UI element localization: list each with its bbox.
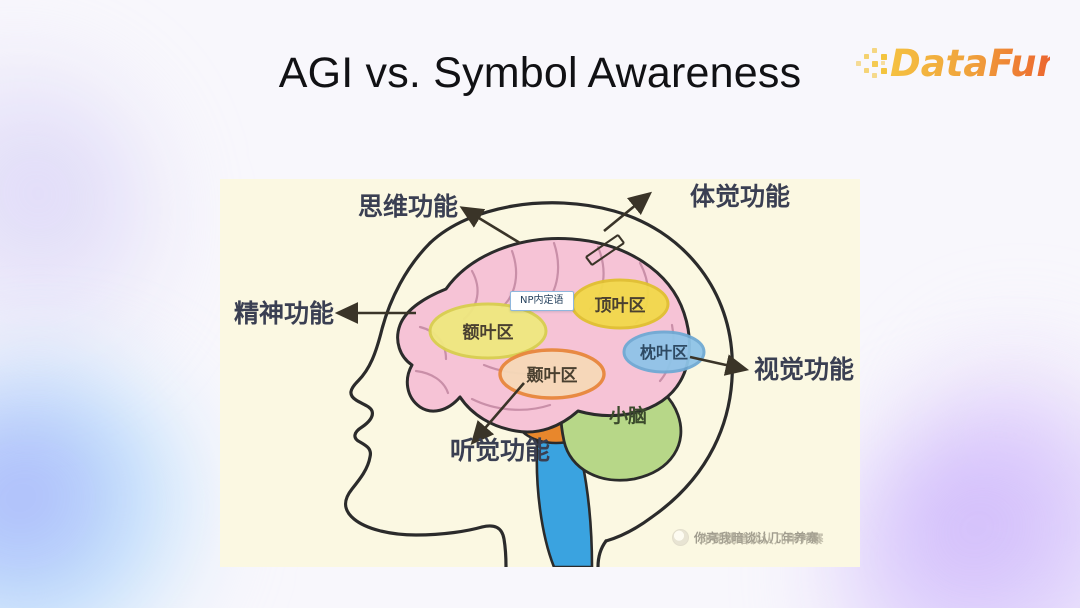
- lobe-label-frontal: 额叶区: [463, 322, 514, 343]
- lobe-label-cerebellum: 小脑: [609, 404, 647, 427]
- decorative-blob-left-bottom: [0, 368, 210, 608]
- function-label-mental: 精神功能: [234, 299, 334, 328]
- function-label-somatosensory: 体觉功能: [690, 182, 790, 211]
- function-label-auditory: 听觉功能: [450, 436, 550, 465]
- function-label-thinking: 思维功能: [358, 192, 458, 221]
- lobe-label-temporal: 颞叶区: [526, 366, 578, 386]
- function-label-visual: 视觉功能: [754, 355, 854, 384]
- lobe-label-occipital: 枕叶区: [640, 343, 688, 362]
- logo-pixel-dots: [856, 48, 887, 78]
- lobe-label-parietal: 顶叶区: [595, 296, 646, 316]
- brain-diagram-image: 额叶区 顶叶区 枕叶区 颞叶区 小脑: [220, 179, 860, 567]
- decorative-blob-right-bottom: [830, 398, 1080, 608]
- logo-wordmark: DataFun.: [890, 42, 1050, 85]
- slide-canvas: AGI vs. Symbol Awareness: [0, 0, 1080, 608]
- np-tooltip[interactable]: NP内定语: [510, 291, 574, 311]
- decorative-blob-right-mid: [910, 330, 1080, 560]
- datafun-logo[interactable]: DataFun.: [854, 40, 1050, 86]
- decorative-blob-left-top: [0, 60, 160, 390]
